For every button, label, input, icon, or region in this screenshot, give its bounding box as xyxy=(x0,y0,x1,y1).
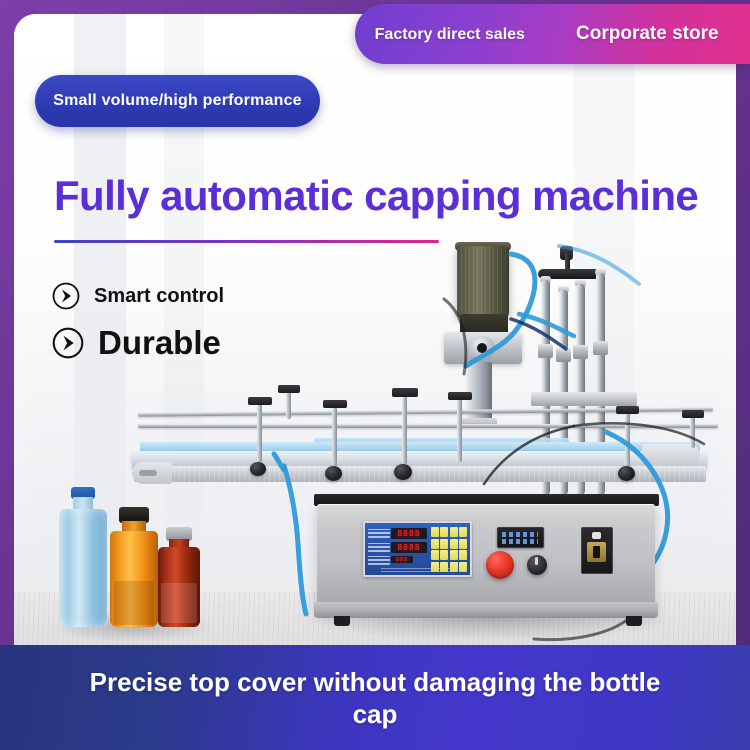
panel-label xyxy=(368,529,390,538)
banner-factory-direct-sales[interactable]: Factory direct sales xyxy=(355,4,545,64)
led-display-small: 888 xyxy=(391,556,413,563)
bottle-body xyxy=(59,509,107,627)
water-bottle xyxy=(59,487,107,627)
digital-meter xyxy=(497,527,544,548)
keypad-key[interactable] xyxy=(440,562,448,572)
feature-label: Smart control xyxy=(94,285,224,308)
panel-label xyxy=(368,556,390,565)
bottle-body xyxy=(110,531,158,627)
divider-line xyxy=(54,240,439,243)
selector-knob[interactable] xyxy=(527,555,547,575)
feature-badge-label: Small volume/high performance xyxy=(53,92,302,110)
panel-label xyxy=(368,543,390,552)
led-display-bottom: 8888 xyxy=(391,542,427,553)
caption-bar: Precise top cover without damaging the b… xyxy=(0,645,750,750)
keypad[interactable] xyxy=(431,527,467,572)
chevron-right-circle-icon xyxy=(52,282,80,310)
bottle-body xyxy=(158,547,200,627)
keypad-key[interactable] xyxy=(431,527,439,537)
juice-bottle xyxy=(110,507,158,627)
keypad-key[interactable] xyxy=(450,539,458,549)
bottle-label xyxy=(161,583,197,623)
bottle-label xyxy=(114,581,154,625)
cabinet-foot xyxy=(334,616,350,626)
keypad-key[interactable] xyxy=(450,550,458,560)
control-panel[interactable]: 8888 8888 888 xyxy=(363,521,472,577)
cabinet-plinth xyxy=(314,602,658,618)
cabinet-foot xyxy=(626,616,642,626)
meter-readout xyxy=(502,532,538,537)
caption-text: Precise top cover without damaging the b… xyxy=(75,666,675,730)
chevron-right-circle-icon xyxy=(52,327,84,359)
banner-corporate-store[interactable]: Corporate store xyxy=(545,4,750,64)
keypad-key[interactable] xyxy=(459,539,467,549)
advertisement-banner: 8888 8888 888 xyxy=(0,0,750,750)
keypad-key[interactable] xyxy=(431,539,439,549)
keypad-key[interactable] xyxy=(459,562,467,572)
keypad-key[interactable] xyxy=(440,527,448,537)
keypad-key[interactable] xyxy=(459,527,467,537)
keypad-key[interactable] xyxy=(459,550,467,560)
keypad-key[interactable] xyxy=(440,539,448,549)
keypad-key[interactable] xyxy=(431,550,439,560)
emergency-stop-button[interactable] xyxy=(486,551,514,579)
conditioner-bottle xyxy=(158,527,200,627)
feature-label: Durable xyxy=(98,324,221,362)
keypad-key[interactable] xyxy=(440,550,448,560)
page-title: Fully automatic capping machine xyxy=(54,172,724,220)
promo-banner[interactable]: Factory direct sales Corporate store xyxy=(355,4,750,64)
keypad-key[interactable] xyxy=(450,527,458,537)
meter-readout xyxy=(502,539,538,544)
power-socket[interactable] xyxy=(581,527,613,574)
socket-switch[interactable] xyxy=(592,532,601,539)
feature-item-smart-control: Smart control xyxy=(52,282,224,310)
feature-badge: Small volume/high performance xyxy=(35,75,320,127)
keypad-key[interactable] xyxy=(450,562,458,572)
feature-item-durable: Durable xyxy=(52,324,221,362)
keypad-key[interactable] xyxy=(431,562,439,572)
socket-inlet xyxy=(587,542,606,562)
led-display-top: 8888 xyxy=(391,528,427,539)
